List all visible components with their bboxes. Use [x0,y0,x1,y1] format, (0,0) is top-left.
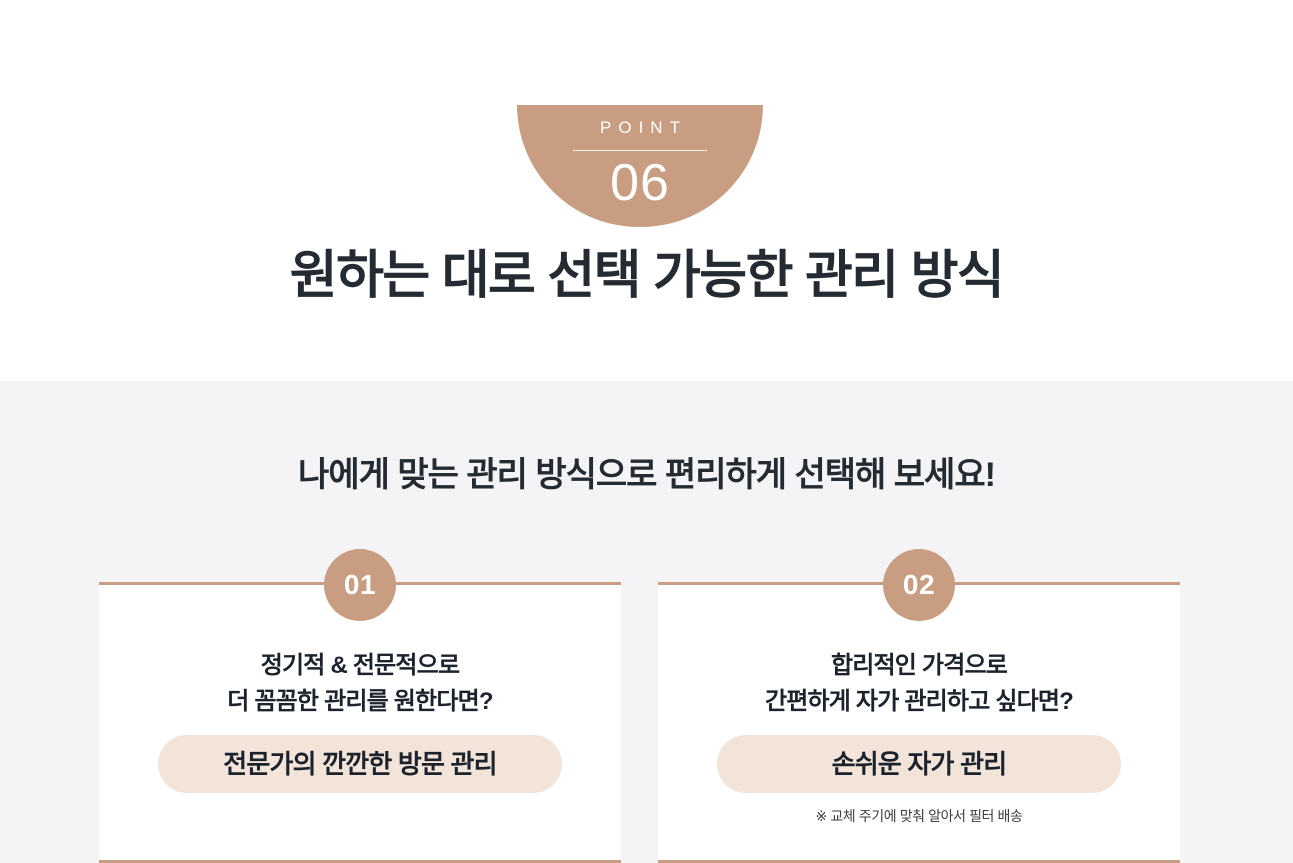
option-card-headline-line2-02: 간편하게 자가 관리하고 싶다면? [658,684,1180,720]
option-card-headline-02: 합리적인 가격으로 간편하게 자가 관리하고 싶다면? [658,648,1180,719]
option-card-body-02: 합리적인 가격으로 간편하게 자가 관리하고 싶다면? 손쉬운 자가 관리 ※ … [658,585,1180,860]
point-badge: POINT 06 [517,105,763,227]
options-card-list: 01 정기적 & 전문적으로 더 꼼꼼한 관리를 원한다면? 전문가의 깐깐한 … [99,582,1180,863]
option-card-headline-01: 정기적 & 전문적으로 더 꼼꼼한 관리를 원한다면? [99,648,621,719]
page-title: 원하는 대로 선택 가능한 관리 방식 [0,245,1293,307]
option-card-note-02: ※ 교체 주기에 맞춰 알아서 필터 배송 [658,808,1180,825]
section-subtitle: 나에게 맞는 관리 방식으로 편리하게 선택해 보세요! [0,455,1293,496]
option-card-headline-line2-01: 더 꼼꼼한 관리를 원한다면? [99,684,621,720]
point-number: 06 [517,157,763,209]
option-card-headline-line1-01: 정기적 & 전문적으로 [261,652,460,679]
options-section: 나에게 맞는 관리 방식으로 편리하게 선택해 보세요! 01 정기적 & 전문… [0,381,1293,863]
point-divider [573,150,707,151]
option-card-body-01: 정기적 & 전문적으로 더 꼼꼼한 관리를 원한다면? 전문가의 깐깐한 방문 … [99,585,621,860]
option-card-01[interactable]: 01 정기적 & 전문적으로 더 꼼꼼한 관리를 원한다면? 전문가의 깐깐한 … [99,582,621,863]
page-root: POINT 06 원하는 대로 선택 가능한 관리 방식 나에게 맞는 관리 방… [0,0,1293,863]
option-card-headline-line1-02: 합리적인 가격으로 [831,652,1007,679]
point-label: POINT [517,119,763,136]
option-card-button-02[interactable]: 손쉬운 자가 관리 [717,735,1121,793]
hero-section: POINT 06 원하는 대로 선택 가능한 관리 방식 [0,0,1293,381]
option-card-02[interactable]: 02 합리적인 가격으로 간편하게 자가 관리하고 싶다면? 손쉬운 자가 관리… [658,582,1180,863]
option-card-button-01[interactable]: 전문가의 깐깐한 방문 관리 [158,735,562,793]
